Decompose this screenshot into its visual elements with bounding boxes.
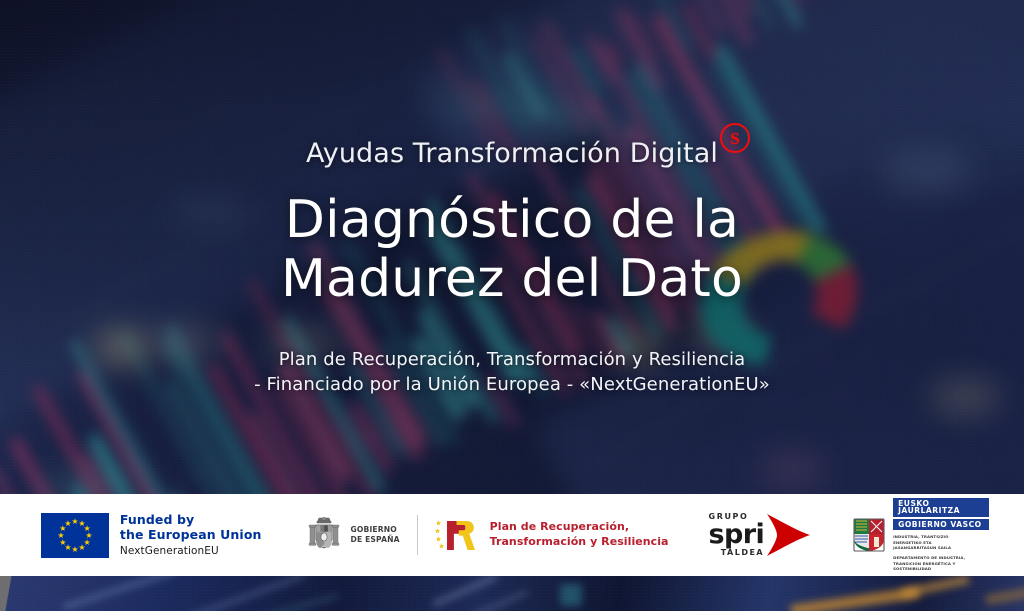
spain-coat-of-arms-icon xyxy=(306,515,342,555)
prtr-line-2: Transformación y Resiliencia xyxy=(490,535,669,550)
page-subtitle: Plan de Recuperación, Transformación y R… xyxy=(254,347,770,398)
dept-eu-line-3: JASANGARRITASUN SAILA xyxy=(893,545,989,551)
gobierno-line-1: GOBIERNO xyxy=(351,525,400,535)
eyebrow-text: Ayudas Transformación Digital xyxy=(306,138,718,169)
funding-logo-bar: ★★★★★★★★★★★★ Funded by the European Unio… xyxy=(0,494,1024,576)
spri-wordmark: GRUPO spri TALDEA xyxy=(709,513,765,557)
logo-divider xyxy=(417,515,418,555)
european-union-funding-logo: ★★★★★★★★★★★★ Funded by the European Unio… xyxy=(41,507,262,563)
gobierno-vasco-bar: GOBIERNO VASCO xyxy=(893,519,989,531)
eyebrow-row: Ayudas Transformación Digital S xyxy=(0,138,1024,169)
eu-nextgeneration-label: NextGenerationEU xyxy=(120,545,262,558)
spri-taldea-label: TALDEA xyxy=(709,549,765,557)
dept-es-line-3: SOSTENIBILIDAD xyxy=(893,566,989,572)
page-title-line-2: Madurez del Dato xyxy=(281,250,743,309)
subsidy-s-badge: S xyxy=(720,123,750,153)
gobierno-de-espana-prtr-logo: GOBIERNO DE ESPAÑA Plan de Recuperación,… xyxy=(306,507,669,563)
basque-government-text: EUSKO JAURLARITZA GOBIERNO VASCO INDUSTR… xyxy=(893,498,989,572)
spri-arrow-icon xyxy=(764,512,812,558)
page-title: Diagnóstico de la Madurez del Dato xyxy=(281,191,743,309)
spri-name: spri xyxy=(709,522,765,548)
basque-department-eu: INDUSTRIA, TRANTSIZIO ENERGETIKO ETA JAS… xyxy=(893,534,989,551)
eu-funded-by-line-2: the European Union xyxy=(120,527,262,542)
grupo-spri-taldea-logo: GRUPO spri TALDEA xyxy=(709,507,813,563)
eu-flag-icon: ★★★★★★★★★★★★ xyxy=(41,513,109,558)
bottom-background-strip xyxy=(0,576,1024,611)
eu-star-icon: ★ xyxy=(57,532,64,539)
page-subtitle-line-2: - Financiado por la Unión Europea - «Nex… xyxy=(254,372,770,398)
eu-star-icon: ★ xyxy=(64,519,71,526)
slide-text-content: Ayudas Transformación Digital S Diagnóst… xyxy=(0,0,1024,494)
eu-logo-text: Funded by the European Union NextGenerat… xyxy=(120,512,262,558)
eusko-jaurlaritza-bar: EUSKO JAURLARITZA xyxy=(893,498,989,517)
plan-recuperacion-monogram-icon xyxy=(435,515,477,555)
eu-star-icon: ★ xyxy=(78,544,85,551)
basque-coat-of-arms-icon xyxy=(852,517,886,553)
gobierno-de-espana-text: GOBIERNO DE ESPAÑA xyxy=(351,525,400,545)
eusko-jaurlaritza-gobierno-vasco-logo: EUSKO JAURLARITZA GOBIERNO VASCO INDUSTR… xyxy=(852,507,989,563)
page-title-line-1: Diagnóstico de la xyxy=(285,190,739,250)
bottom-strip-noise xyxy=(0,576,1024,611)
basque-department-es: DEPARTAMENTO DE INDUSTRIA, TRANSICIÓN EN… xyxy=(893,555,989,572)
prtr-line-1: Plan de Recuperación, xyxy=(490,520,669,535)
page-subtitle-line-1: Plan de Recuperación, Transformación y R… xyxy=(279,349,746,370)
plan-recuperacion-text: Plan de Recuperación, Transformación y R… xyxy=(490,520,669,550)
eu-star-icon: ★ xyxy=(59,539,66,546)
presentation-slide: Ayudas Transformación Digital S Diagnóst… xyxy=(0,0,1024,611)
gobierno-line-2: DE ESPAÑA xyxy=(351,535,400,545)
eu-star-icon: ★ xyxy=(71,546,78,553)
eu-star-icon: ★ xyxy=(71,518,78,525)
eu-funded-by-line-1: Funded by xyxy=(120,512,262,527)
